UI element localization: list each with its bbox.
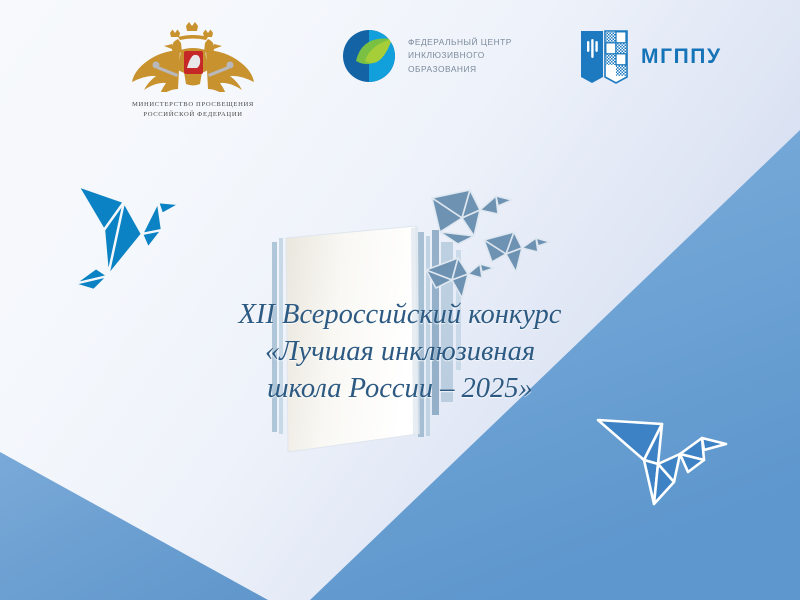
logo-row: Министерство просвещения Российской Феде… (0, 0, 800, 140)
fcio-logo-caption: Федеральный центр инклюзивного образован… (408, 36, 512, 77)
ministry-logo-caption: Министерство просвещения Российской Феде… (108, 100, 278, 120)
poster-canvas: Министерство просвещения Российской Феде… (0, 0, 800, 600)
origami-bird-left-icon (62, 172, 210, 300)
corner-band-bottom-left (0, 452, 268, 600)
shield-psi-checker-icon (578, 28, 630, 86)
mgppu-logo-caption: МГППУ (641, 45, 722, 69)
origami-bird-flock-icon (418, 188, 568, 304)
origami-bird-large-icon (592, 398, 752, 546)
double-headed-eagle-icon (108, 20, 278, 92)
poster-title: XII Всероссийский конкурс «Лучшая инклюз… (0, 296, 800, 407)
fcio-logo-block: Федеральный центр инклюзивного образован… (340, 27, 512, 85)
ministry-logo-block: Министерство просвещения Российской Феде… (108, 20, 278, 120)
mgppu-logo-block: МГППУ (578, 28, 722, 86)
sphere-leaf-icon (340, 27, 398, 85)
